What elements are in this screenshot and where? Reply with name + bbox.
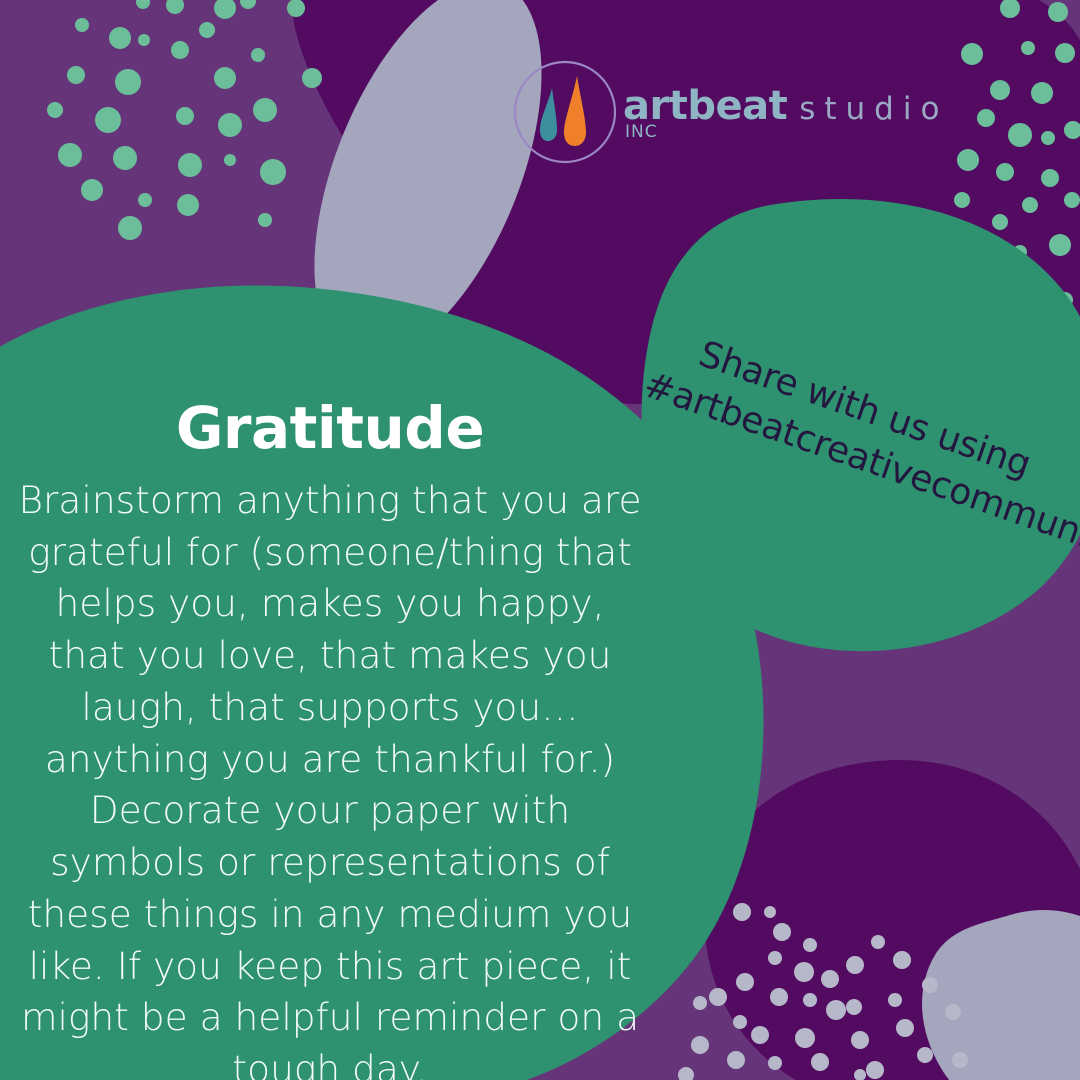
prompt-card: Gratitude Brainstorm anything that you a… (0, 398, 660, 1080)
brand-secondary-text: studio (799, 91, 948, 127)
brand-suffix-text: INC (625, 124, 658, 141)
artbeat-logo[interactable]: artbeatstudio INC (505, 52, 905, 172)
circle-outline-icon (515, 62, 615, 162)
artbeat-logo-mark (505, 52, 625, 172)
artbeat-wordmark: artbeatstudio INC (623, 86, 903, 126)
teardrop-orange-icon (564, 76, 586, 146)
page-title: Gratitude (0, 398, 660, 459)
teardrop-teal-icon (540, 88, 557, 141)
prompt-body-text: Brainstorm anything that you are gratefu… (0, 475, 660, 1080)
poster-canvas: artbeatstudio INC Share with us using #a… (0, 0, 1080, 1080)
